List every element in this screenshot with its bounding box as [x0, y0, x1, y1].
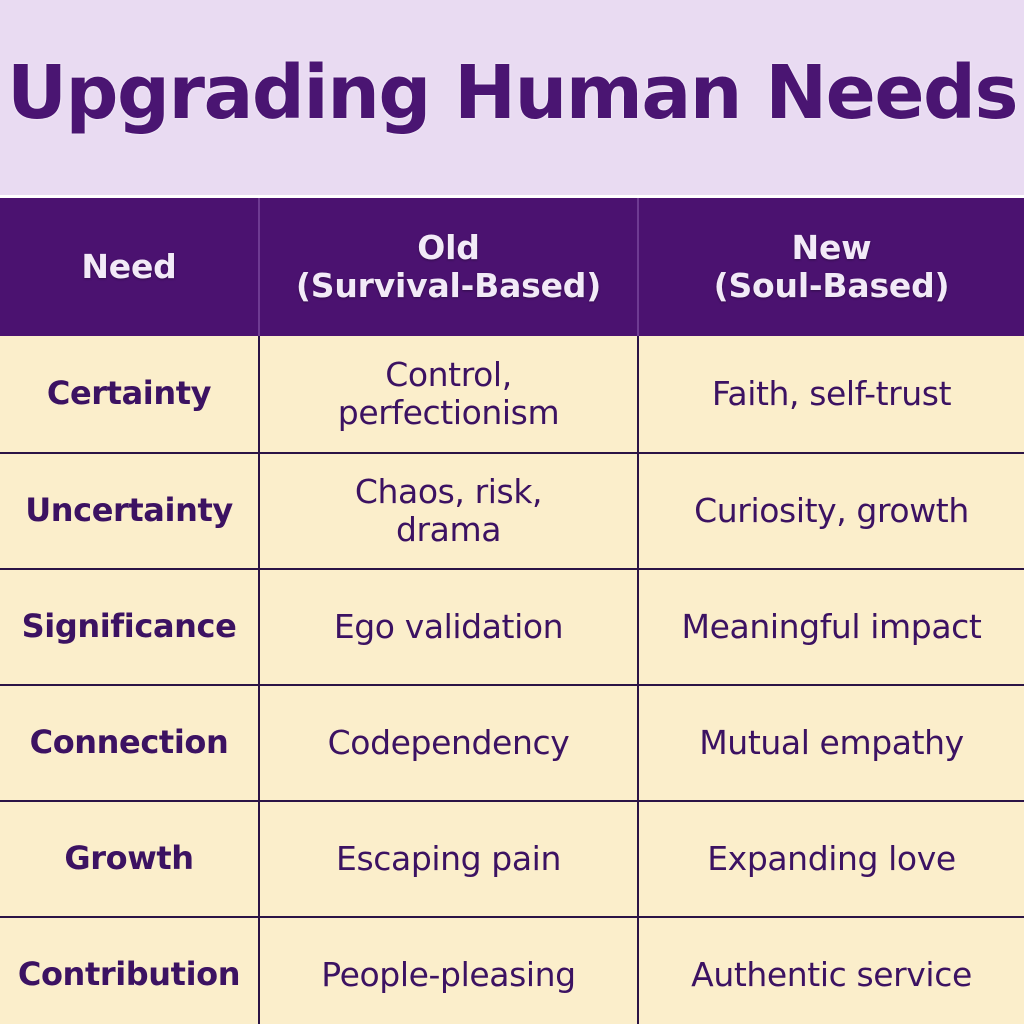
cell-need: Growth [0, 802, 258, 916]
infographic-page: Upgrading Human Needs Need Old (Survival… [0, 0, 1024, 1024]
column-header-old: Old (Survival-Based) [258, 198, 637, 336]
cell-old-line1: Control, [385, 355, 512, 394]
cell-new: Faith, self-trust [637, 336, 1024, 452]
table-row: Significance Ego validation Meaningful i… [0, 568, 1024, 684]
comparison-table: Need Old (Survival-Based) New (Soul-Base… [0, 198, 1024, 1024]
cell-old-line1: People-pleasing [321, 955, 575, 994]
cell-new: Expanding love [637, 802, 1024, 916]
cell-old: Codependency [258, 686, 637, 800]
cell-new-line1: Faith, self-trust [712, 374, 951, 413]
table-row: Growth Escaping pain Expanding love [0, 800, 1024, 916]
cell-old: Ego validation [258, 570, 637, 684]
cell-new: Authentic service [637, 918, 1024, 1024]
cell-old-line1: Codependency [328, 723, 570, 762]
title-banner: Upgrading Human Needs [0, 0, 1024, 198]
page-title: Upgrading Human Needs [7, 55, 1017, 133]
table-row: Uncertainty Chaos, risk, drama Curiosity… [0, 452, 1024, 568]
column-header-old-label: Old [417, 228, 479, 267]
table-row: Contribution People-pleasing Authentic s… [0, 916, 1024, 1024]
cell-old: People-pleasing [258, 918, 637, 1024]
column-header-need: Need [0, 198, 258, 336]
cell-need: Contribution [0, 918, 258, 1024]
cell-old-line2: perfectionism [338, 394, 559, 432]
column-header-new-label: New [792, 228, 872, 267]
cell-old-line1: Escaping pain [336, 839, 561, 878]
cell-old-line2: drama [355, 511, 542, 549]
cell-old-line1: Ego validation [334, 607, 563, 646]
cell-need: Significance [0, 570, 258, 684]
cell-new: Mutual empathy [637, 686, 1024, 800]
table-row: Connection Codependency Mutual empathy [0, 684, 1024, 800]
cell-old: Control, perfectionism [258, 336, 637, 452]
cell-old: Chaos, risk, drama [258, 454, 637, 568]
table-row: Certainty Control, perfectionism Faith, … [0, 336, 1024, 452]
column-header-new-sublabel: (Soul-Based) [714, 267, 950, 305]
cell-new: Curiosity, growth [637, 454, 1024, 568]
cell-new-line1: Authentic service [691, 955, 972, 994]
table-header-row: Need Old (Survival-Based) New (Soul-Base… [0, 198, 1024, 336]
cell-new-line1: Curiosity, growth [694, 491, 969, 530]
cell-new-line1: Mutual empathy [699, 723, 964, 762]
column-header-new: New (Soul-Based) [637, 198, 1024, 336]
cell-old-line1: Chaos, risk, [355, 472, 542, 511]
cell-new-line1: Expanding love [707, 839, 956, 878]
cell-new: Meaningful impact [637, 570, 1024, 684]
column-header-need-label: Need [81, 247, 176, 286]
column-header-old-sublabel: (Survival-Based) [296, 267, 601, 305]
cell-old: Escaping pain [258, 802, 637, 916]
cell-need: Uncertainty [0, 454, 258, 568]
cell-new-line1: Meaningful impact [682, 607, 982, 646]
cell-need: Connection [0, 686, 258, 800]
cell-need: Certainty [0, 336, 258, 452]
